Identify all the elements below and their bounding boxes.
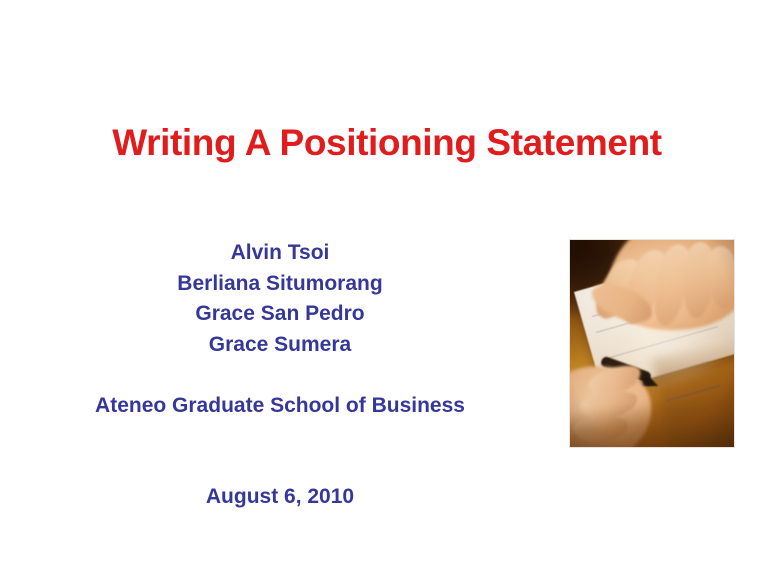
author-name: Alvin Tsoi: [0, 238, 560, 269]
page-title: Writing A Positioning Statement: [0, 120, 768, 166]
author-name: Grace San Pedro: [0, 299, 560, 330]
soft-focus-wash: [570, 240, 734, 447]
hands-writing-check-photo: [569, 239, 735, 448]
organization-name: Ateneo Graduate School of Business: [0, 391, 560, 422]
blank-line: [0, 360, 560, 391]
photo-canvas: [570, 240, 734, 447]
title-slide-body: Alvin Tsoi Berliana Situmorang Grace San…: [0, 238, 560, 513]
author-name: Berliana Situmorang: [0, 269, 560, 300]
author-name: Grace Sumera: [0, 330, 560, 361]
blank-line: [0, 421, 560, 452]
presentation-title-slide: Writing A Positioning Statement Alvin Ts…: [0, 0, 768, 576]
presentation-date: August 6, 2010: [0, 482, 560, 513]
blank-line: [0, 452, 560, 483]
